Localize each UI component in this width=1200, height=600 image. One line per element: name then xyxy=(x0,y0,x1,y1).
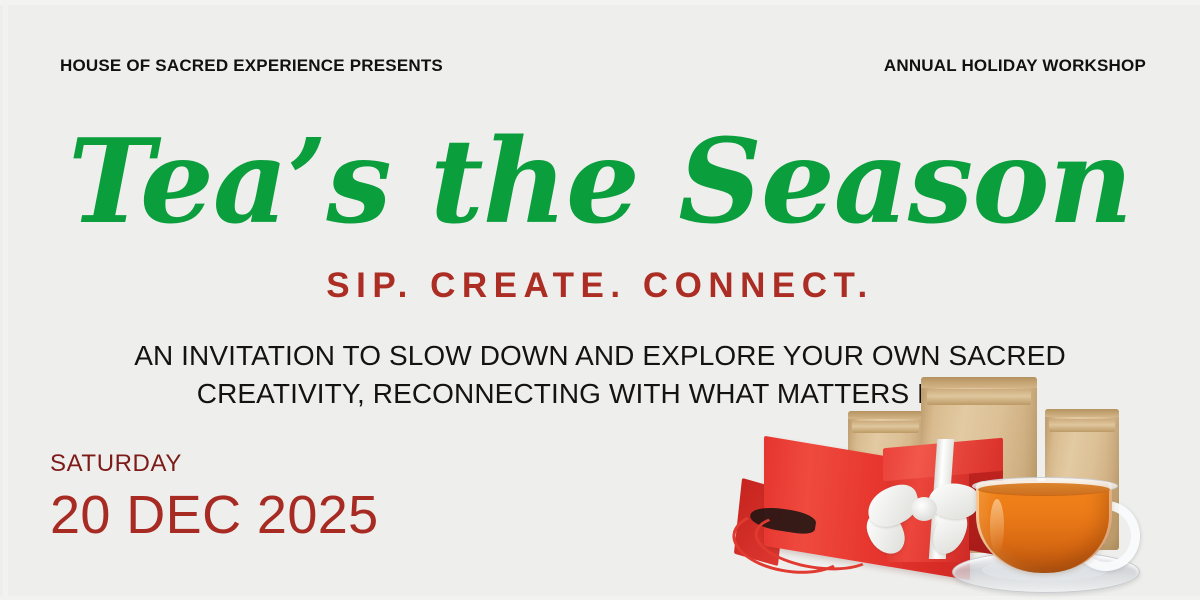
event-banner: HOUSE OF SACRED EXPERIENCE PRESENTS ANNU… xyxy=(0,0,1200,600)
product-photo xyxy=(700,355,1200,600)
event-type-label: ANNUAL HOLIDAY WORKSHOP xyxy=(884,57,1146,74)
presenter-label: HOUSE OF SACRED EXPERIENCE PRESENTS xyxy=(60,57,443,74)
event-weekday: SATURDAY xyxy=(50,452,379,476)
event-date-value: 20 DEC 2025 xyxy=(50,488,379,542)
banner-top-edge xyxy=(0,0,1200,5)
glass-teacup-icon xyxy=(952,463,1146,593)
event-date: SATURDAY 20 DEC 2025 xyxy=(50,452,379,542)
page-title: Tea’s the Season xyxy=(0,118,1200,248)
tagline: SIP. CREATE. CONNECT. xyxy=(0,268,1200,303)
